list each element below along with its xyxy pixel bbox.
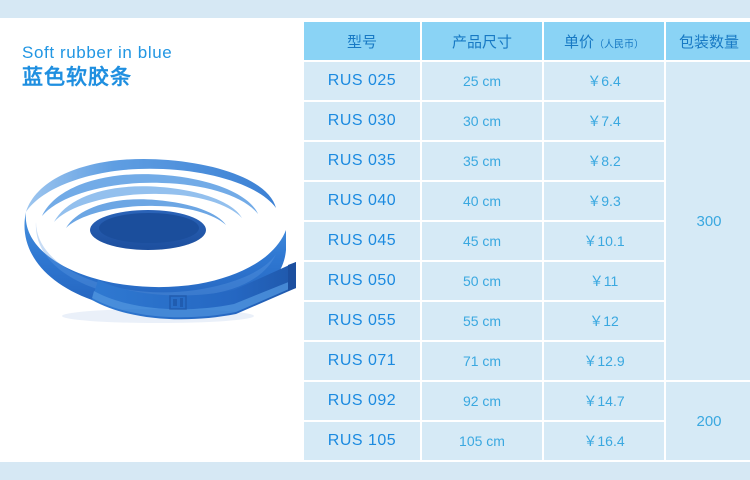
cell-model: RUS 092	[304, 382, 420, 420]
cell-size: 71 cm	[422, 342, 542, 380]
product-title-chinese: 蓝色软胶条	[22, 65, 282, 91]
table-row: RUS 025 25 cm ￥6.4 300	[304, 62, 750, 100]
cell-price: ￥12	[544, 302, 664, 340]
cell-model: RUS 071	[304, 342, 420, 380]
cell-size: 30 cm	[422, 102, 542, 140]
column-header-price: 单价（人民币）	[544, 22, 664, 60]
cell-price: ￥11	[544, 262, 664, 300]
column-header-model: 型号	[304, 22, 420, 60]
cell-price: ￥16.4	[544, 422, 664, 460]
cell-model: RUS 035	[304, 142, 420, 180]
cell-size: 105 cm	[422, 422, 542, 460]
bottom-accent-band	[0, 462, 750, 480]
top-accent-band	[0, 0, 750, 18]
product-title-block: Soft rubber in blue 蓝色软胶条	[22, 42, 282, 91]
product-title-english: Soft rubber in blue	[22, 42, 282, 64]
table-header-row: 型号 产品尺寸 单价（人民币） 包装数量	[304, 22, 750, 60]
cell-size: 55 cm	[422, 302, 542, 340]
column-header-size: 产品尺寸	[422, 22, 542, 60]
cell-price: ￥14.7	[544, 382, 664, 420]
product-panel: Soft rubber in blue 蓝色软胶条	[0, 18, 300, 462]
column-header-price-main: 单价	[564, 34, 594, 51]
cell-price: ￥12.9	[544, 342, 664, 380]
cell-price: ￥8.2	[544, 142, 664, 180]
cell-size: 45 cm	[422, 222, 542, 260]
cell-price: ￥7.4	[544, 102, 664, 140]
cell-model: RUS 030	[304, 102, 420, 140]
cell-model: RUS 025	[304, 62, 420, 100]
coiled-blue-rubber-strip-illustration	[8, 138, 300, 328]
column-header-price-currency: （人民币）	[594, 39, 644, 50]
product-image	[8, 138, 300, 328]
cell-packing-quantity: 300	[666, 62, 750, 380]
cell-size: 50 cm	[422, 262, 542, 300]
table-row: RUS 092 92 cm ￥14.7 200	[304, 382, 750, 420]
cell-size: 40 cm	[422, 182, 542, 220]
cell-price: ￥6.4	[544, 62, 664, 100]
cell-size: 92 cm	[422, 382, 542, 420]
cell-model: RUS 105	[304, 422, 420, 460]
cell-size: 35 cm	[422, 142, 542, 180]
cell-packing-quantity: 200	[666, 382, 750, 460]
cell-model: RUS 050	[304, 262, 420, 300]
cell-size: 25 cm	[422, 62, 542, 100]
cell-model: RUS 055	[304, 302, 420, 340]
cell-price: ￥10.1	[544, 222, 664, 260]
specification-table: 型号 产品尺寸 单价（人民币） 包装数量 RUS 025 25 cm ￥6.4 …	[302, 20, 750, 462]
table-body: RUS 025 25 cm ￥6.4 300 RUS 030 30 cm ￥7.…	[304, 62, 750, 460]
cell-price: ￥9.3	[544, 182, 664, 220]
cell-model: RUS 040	[304, 182, 420, 220]
column-header-packing: 包装数量	[666, 22, 750, 60]
cell-model: RUS 045	[304, 222, 420, 260]
